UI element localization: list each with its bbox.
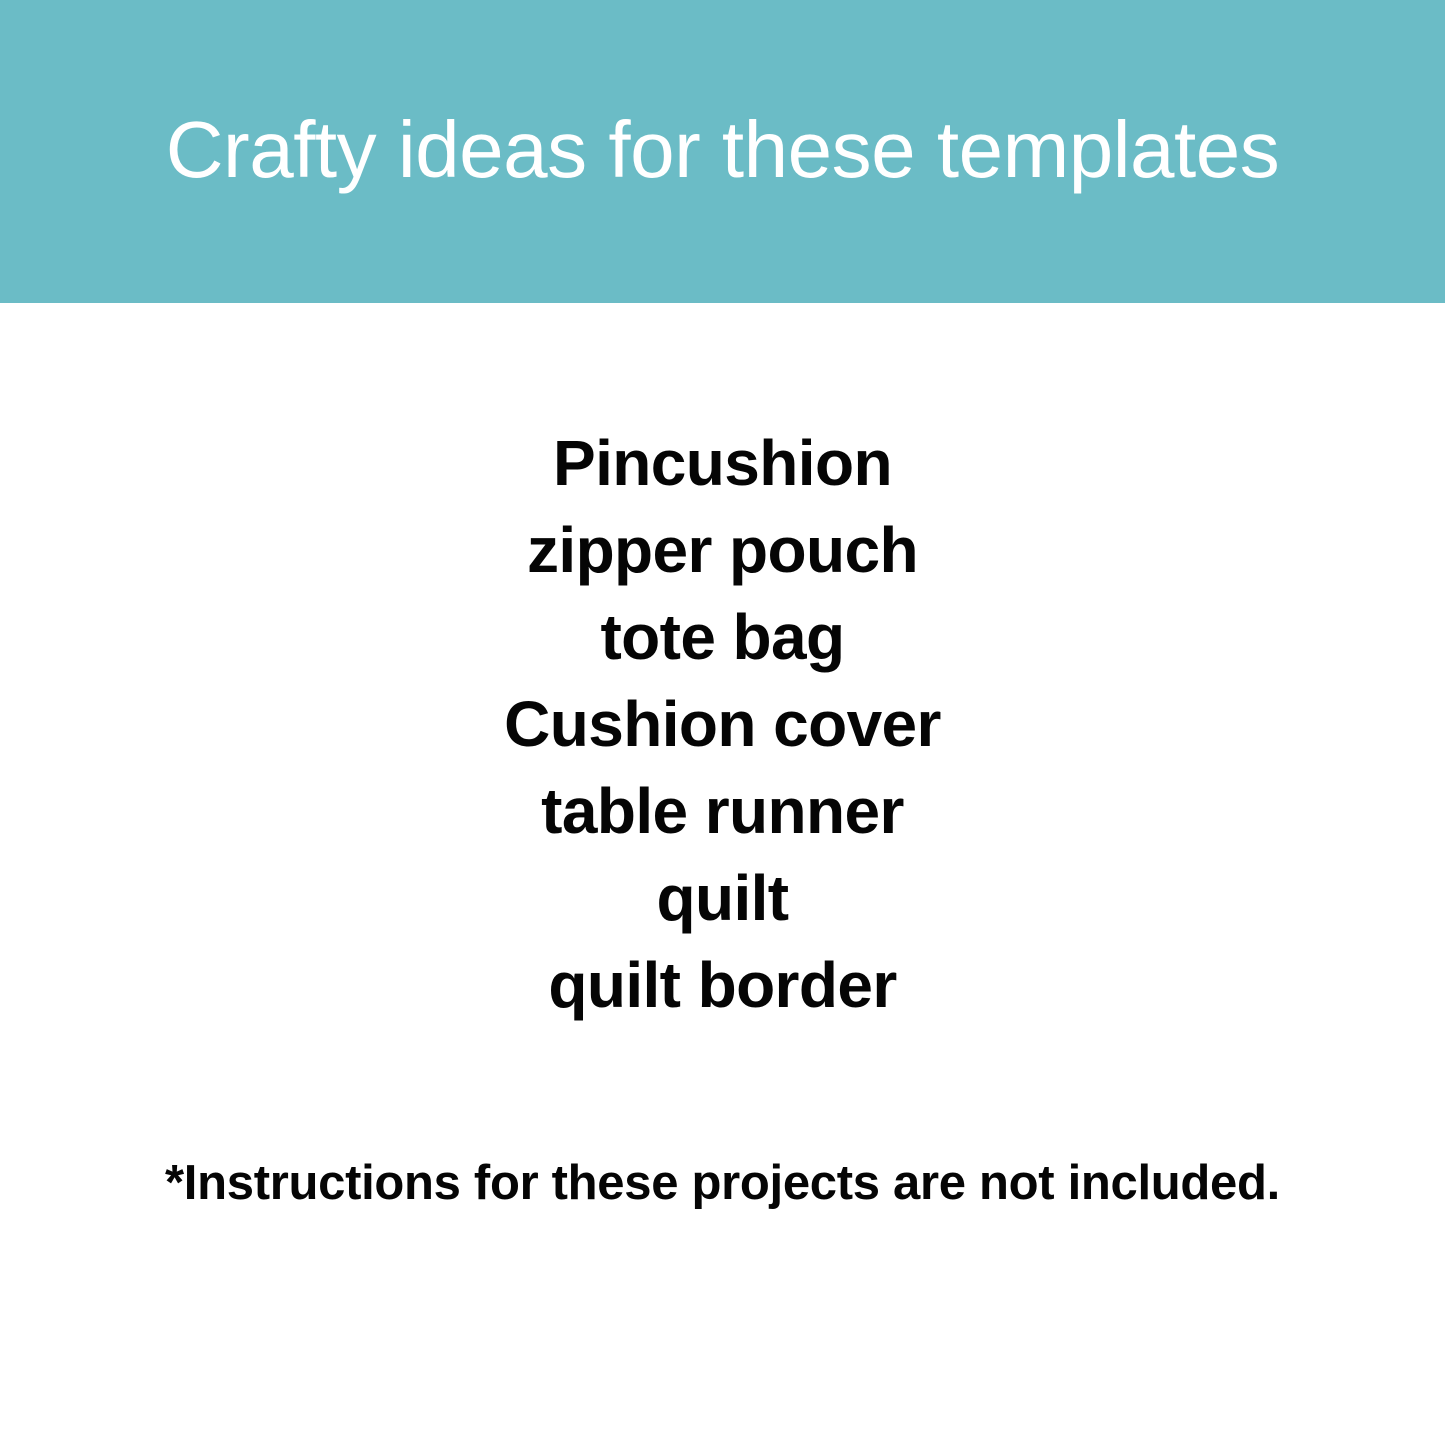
page-title: Crafty ideas for these templates [166,110,1279,190]
header-banner: Crafty ideas for these templates [0,0,1445,303]
crafty-ideas-list: Pincushion zipper pouch tote bag Cushion… [0,420,1445,1029]
list-item: quilt [0,855,1445,942]
list-item: Pincushion [0,420,1445,507]
promo-card: Crafty ideas for these templates Pincush… [0,0,1445,1445]
disclaimer-note: *Instructions for these projects are not… [0,1153,1445,1213]
list-item: zipper pouch [0,507,1445,594]
list-item: Cushion cover [0,681,1445,768]
list-item: table runner [0,768,1445,855]
list-item: tote bag [0,594,1445,681]
content-area: Pincushion zipper pouch tote bag Cushion… [0,303,1445,1445]
list-item: quilt border [0,942,1445,1029]
